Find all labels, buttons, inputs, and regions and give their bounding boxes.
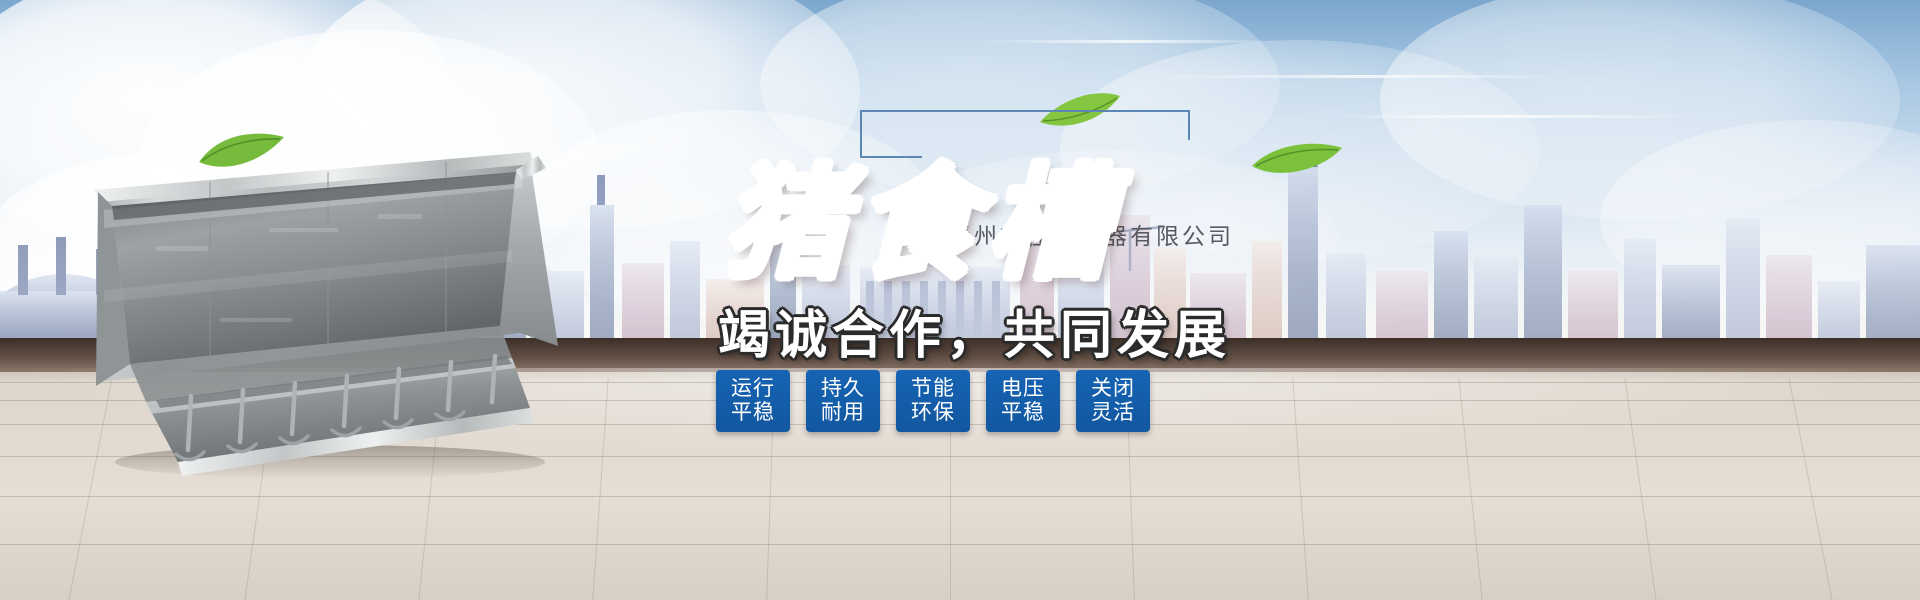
main-title: 猪食槽 (724, 163, 1120, 285)
feature-badge[interactable]: 持久耐用 (806, 370, 880, 432)
feature-badge-line1: 电压 (1001, 377, 1045, 401)
feature-badge-line1: 节能 (911, 377, 955, 401)
feature-badge-line1: 运行 (731, 377, 775, 401)
feature-badge[interactable]: 节能环保 (896, 370, 970, 432)
feature-badge-list: 运行平稳持久耐用节能环保电压平稳关闭灵活 (716, 370, 1150, 432)
cloud-shape (1600, 120, 1920, 320)
promo-banner: 青州市佳和电器有限公司 猪食槽 猪食槽 竭诚合作，共同发展 运行平稳持久耐用节能… (0, 0, 1920, 600)
feature-badge[interactable]: 运行平稳 (716, 370, 790, 432)
cloud-streak (980, 40, 1280, 43)
feature-badge-line1: 关闭 (1091, 377, 1135, 401)
feature-badge-line1: 持久 (821, 377, 865, 401)
cloud-shape (1380, 0, 1900, 220)
subtitle-slogan: 竭诚合作，共同发展 (718, 293, 1231, 368)
feature-badge-line2: 环保 (911, 401, 955, 425)
product-image-pig-feeder-trough (60, 150, 580, 480)
feature-badge-line2: 耐用 (821, 401, 865, 425)
frame-right-line (1188, 110, 1190, 140)
frame-top-line (860, 110, 1190, 112)
banner-text-block: 青州市佳和电器有限公司 猪食槽 猪食槽 竭诚合作，共同发展 运行平稳持久耐用节能… (700, 95, 1420, 475)
feature-badge[interactable]: 关闭灵活 (1076, 370, 1150, 432)
company-name-frame (860, 110, 1190, 158)
frame-left-line (860, 110, 862, 158)
feature-badge-line2: 平稳 (731, 401, 775, 425)
feature-badge[interactable]: 电压平稳 (986, 370, 1060, 432)
feature-badge-line2: 灵活 (1091, 401, 1135, 425)
cloud-streak (1150, 75, 1570, 78)
feature-badge-line2: 平稳 (1001, 401, 1045, 425)
